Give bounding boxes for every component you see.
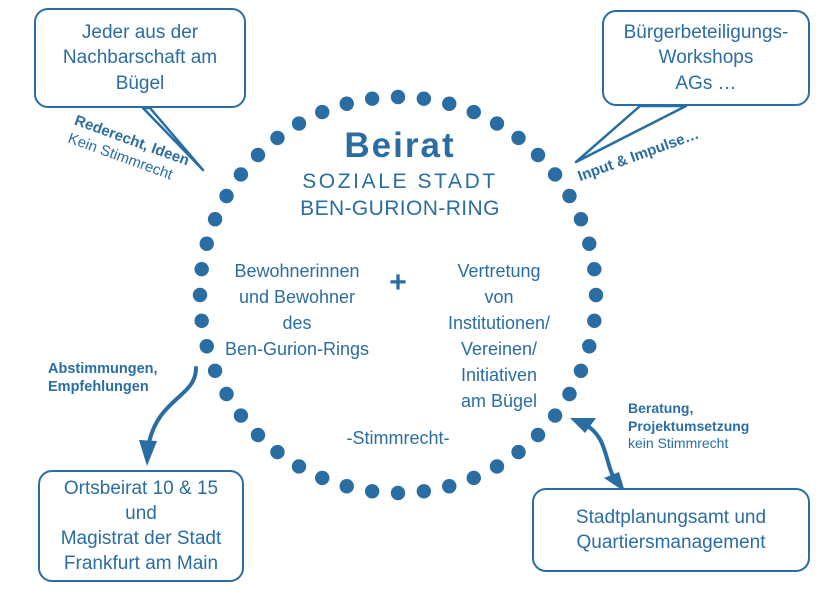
center-right-line-6: am Bügel: [415, 388, 583, 414]
center-left-line-3: des: [213, 310, 381, 336]
ring-dot: [417, 91, 431, 105]
bubble-participation-line-1: Bürgerbeteiligungs-: [624, 20, 789, 45]
ring-dot: [589, 288, 603, 302]
center-left-line-2: und Bewohner: [213, 284, 381, 310]
bubble-neighbourhood-line-3: Bügel: [63, 71, 217, 96]
ring-dot: [270, 445, 284, 459]
center-subtitle: SOZIALE STADT: [260, 168, 540, 196]
center-columns: Bewohnerinnen und Bewohner des Ben-Gurio…: [212, 258, 584, 415]
center-left-line-4: Ben-Gurion-Rings: [213, 336, 381, 362]
center-heading-group: Beirat SOZIALE STADT BEN-GURION-RING: [260, 128, 540, 221]
ring-dot: [587, 262, 601, 276]
ring-dot: [234, 167, 248, 181]
bubble-participation-line-2: Workshops: [624, 45, 789, 70]
callout-rederecht: Rederecht, Ideen Kein Stimmrecht: [65, 112, 191, 189]
ring-dot: [442, 479, 456, 493]
bubble-participation[interactable]: Bürgerbeteiligungs- Workshops AGs …: [602, 10, 810, 106]
callout-beratung-line-3: kein Stimmrecht: [628, 435, 749, 453]
callout-input: Input & Impulse…: [576, 126, 702, 187]
ring-dot: [490, 459, 504, 473]
diagram-canvas: Beirat SOZIALE STADT BEN-GURION-RING Bew…: [0, 0, 820, 600]
box-stadtplanung-line-1: Stadtplanungsamt und: [576, 505, 766, 530]
arrow-abstimmungen-head: [139, 440, 157, 466]
center-left-line-1: Bewohnerinnen: [213, 258, 381, 284]
ring-dot: [548, 167, 562, 181]
ring-dot: [442, 97, 456, 111]
box-ortsbeirat-line-1: Ortsbeirat 10 & 15: [61, 476, 222, 501]
ring-dot: [219, 189, 233, 203]
center-right-line-5: Initiativen: [415, 362, 583, 388]
ring-dot: [365, 484, 379, 498]
callout-abstimmungen: Abstimmungen, Empfehlungen: [48, 360, 158, 396]
ring-dot: [208, 212, 222, 226]
center-right-line-1: Vertretung: [415, 258, 583, 284]
bubble-neighbourhood-line-2: Nachbarschaft am: [63, 45, 217, 70]
ring-dot: [365, 91, 379, 105]
bubble-neighbourhood[interactable]: Jeder aus der Nachbarschaft am Bügel: [34, 8, 246, 108]
box-ortsbeirat-line-3: Magistrat der Stadt: [61, 526, 222, 551]
ring-dot: [315, 105, 329, 119]
bubble-neighbourhood-line-1: Jeder aus der: [63, 20, 217, 45]
ring-dot: [292, 459, 306, 473]
ring-dot: [582, 339, 596, 353]
ring-dot: [511, 445, 525, 459]
callout-abstimmungen-line-2: Empfehlungen: [48, 378, 158, 396]
ring-dot: [467, 471, 481, 485]
arrow-beratung: [584, 424, 616, 482]
ring-dot: [194, 314, 208, 328]
ring-dot: [200, 237, 214, 251]
callout-beratung-line-1: Beratung,: [628, 400, 749, 418]
plus-sign: +: [381, 258, 415, 299]
ring-dot: [194, 262, 208, 276]
ring-dot: [193, 288, 207, 302]
box-stadtplanung[interactable]: Stadtplanungsamt und Quartiersmanagement: [532, 488, 810, 572]
voting-note: -Stimmrecht-: [298, 428, 498, 449]
ring-dot: [340, 97, 354, 111]
ring-dot: [391, 90, 405, 104]
ring-dot: [574, 212, 588, 226]
center-right-column: Vertretung von Institutionen/ Vereinen/ …: [415, 258, 583, 415]
ring-dot: [417, 484, 431, 498]
box-ortsbeirat[interactable]: Ortsbeirat 10 & 15 und Magistrat der Sta…: [38, 470, 244, 582]
ring-dot: [315, 471, 329, 485]
center-right-line-4: Vereinen/: [415, 336, 583, 362]
center-subtitle-2: BEN-GURION-RING: [260, 196, 540, 221]
box-ortsbeirat-line-2: und: [61, 501, 222, 526]
callout-input-line-1: Input & Impulse…: [576, 126, 702, 187]
ring-dot: [562, 189, 576, 203]
box-stadtplanung-line-2: Quartiersmanagement: [576, 530, 766, 555]
center-right-line-3: Institutionen/: [415, 310, 583, 336]
ring-dot: [391, 486, 405, 500]
center-title: Beirat: [260, 128, 540, 165]
center-left-column: Bewohnerinnen und Bewohner des Ben-Gurio…: [213, 258, 381, 362]
callout-beratung: Beratung, Projektumsetzung kein Stimmrec…: [628, 400, 749, 453]
ring-dot: [582, 237, 596, 251]
ring-dot: [467, 105, 481, 119]
ring-dot: [587, 314, 601, 328]
callout-abstimmungen-line-1: Abstimmungen,: [48, 360, 158, 378]
box-ortsbeirat-line-4: Frankfurt am Main: [61, 551, 222, 576]
callout-beratung-line-2: Projektumsetzung: [628, 418, 749, 436]
center-right-line-2: von: [415, 284, 583, 310]
ring-dot: [251, 428, 265, 442]
bubble-participation-line-3: AGs …: [624, 71, 789, 96]
arrow-beratung-head-up: [570, 418, 596, 433]
ring-dot: [340, 479, 354, 493]
ring-dot: [531, 428, 545, 442]
